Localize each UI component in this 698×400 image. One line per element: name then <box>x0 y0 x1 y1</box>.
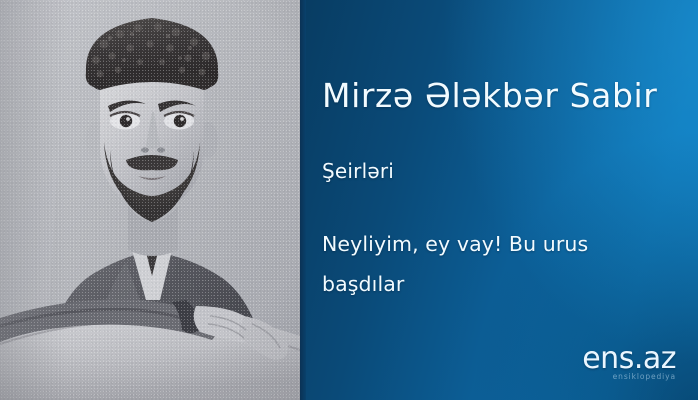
portrait-illustration <box>0 0 300 400</box>
info-panel: Mirzə Ələkbər Sabir Şeirləri Neyliyim, e… <box>300 0 698 400</box>
portrait-photo <box>0 0 300 400</box>
poem-card: Mirzə Ələkbər Sabir Şeirləri Neyliyim, e… <box>0 0 698 400</box>
subtitle: Şeirləri <box>322 158 394 184</box>
page-title: Mirzə Ələkbər Sabir <box>322 76 657 116</box>
logo-wordmark: ens.az <box>572 344 676 374</box>
panel-left-edge <box>300 0 306 400</box>
poem-title: Neyliyim, ey vay! Bu urus başdılar <box>322 224 652 304</box>
ensaz-logo[interactable]: ens.az ensiklopediya <box>572 344 676 380</box>
